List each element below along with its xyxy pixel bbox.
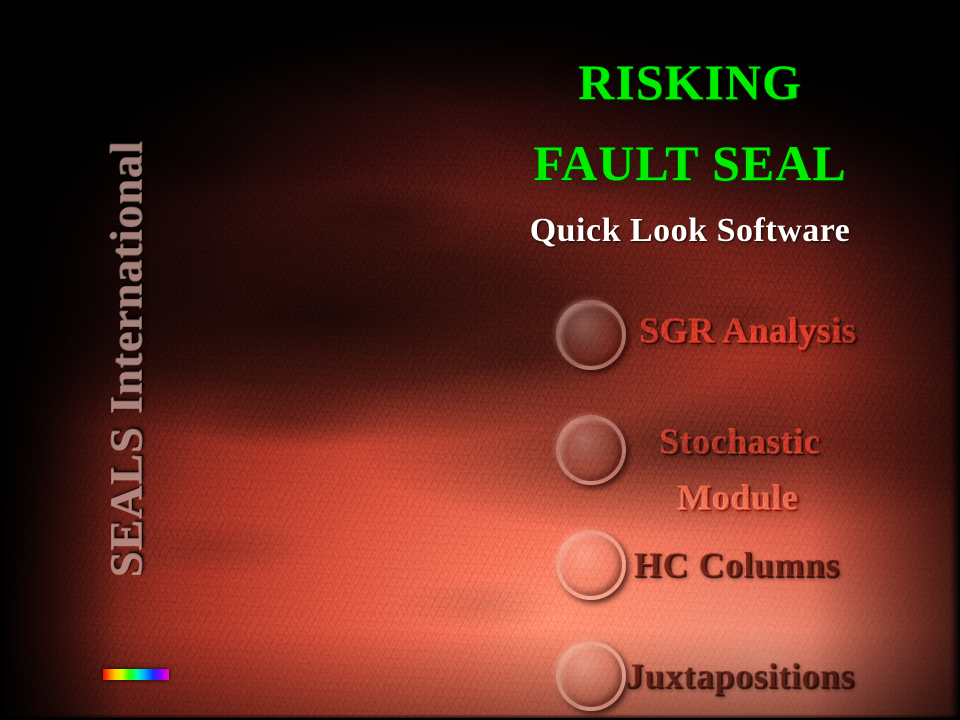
page-subtitle: Quick Look Software (440, 212, 940, 250)
title-slide: RISKING FAULT SEAL Quick Look Software S… (0, 0, 960, 720)
menu-item-label-juxtapositions: Juxtapositions (626, 655, 944, 697)
menu-item-juxtapositions[interactable]: Juxtapositions (548, 637, 960, 709)
menu-item-hc-columns[interactable]: HC Columns (548, 526, 960, 598)
title-line-1: RISKING (440, 42, 940, 123)
circle-bullet-icon (556, 530, 626, 600)
menu-item-label-hc-columns: HC Columns (634, 544, 952, 586)
rainbow-spectrum-bar (103, 669, 169, 680)
circle-bullet-icon (556, 415, 626, 485)
menu-item-sgr-analysis[interactable]: SGR Analysis (548, 296, 960, 368)
circle-bullet-icon (556, 641, 626, 711)
circle-bullet-icon (556, 300, 626, 370)
menu-item-stochastic-module[interactable]: Stochastic Module (548, 411, 960, 483)
menu-item-label-sgr-analysis: SGR Analysis (640, 310, 958, 352)
menu-item-label-stochastic: Stochastic (660, 421, 960, 463)
menu-item-label-stochastic-line2: Module (678, 477, 960, 519)
title-line-2: FAULT SEAL (440, 123, 940, 204)
page-title: RISKING FAULT SEAL (440, 42, 940, 204)
